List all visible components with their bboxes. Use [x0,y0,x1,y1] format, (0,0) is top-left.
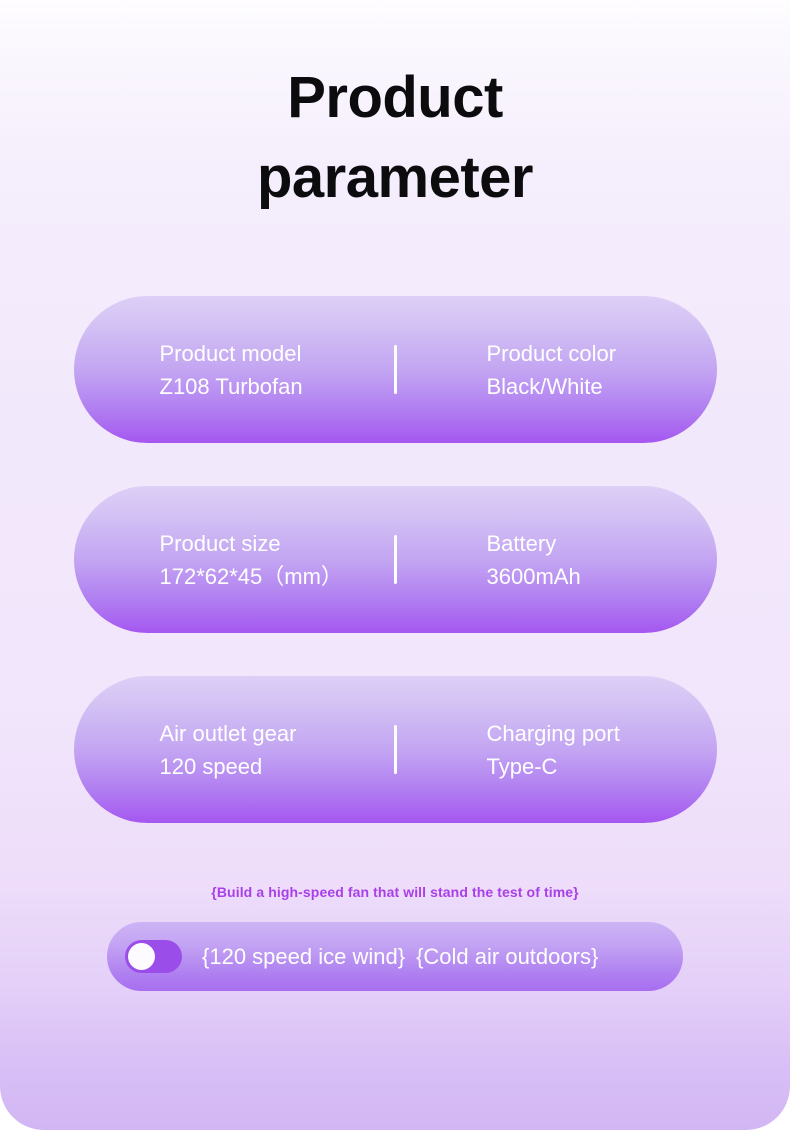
parameter-label: Product size [160,527,394,560]
toggle-switch[interactable] [125,940,182,973]
parameter-pill: Air outlet gear 120 speed Charging port … [74,676,717,823]
parameter-cell-left: Air outlet gear 120 speed [74,717,394,783]
parameter-value: Type-C [487,750,620,783]
parameter-label: Battery [487,527,581,560]
parameter-label: Product model [160,337,394,370]
feature-toggle-bar[interactable]: {120 speed ice wind}{Cold air outdoors} [107,922,683,991]
feature-text-2: {Cold air outdoors} [416,944,598,969]
parameter-label: Charging port [487,717,620,750]
feature-text-1: {120 speed ice wind} [202,944,405,969]
parameter-label: Air outlet gear [160,717,394,750]
parameter-pill: Product size 172*62*45（mm） Battery 3600m… [74,486,717,633]
parameter-cell-right: Product color Black/White [397,337,617,403]
parameter-cell-left: Product size 172*62*45（mm） [74,527,394,593]
parameter-label: Product color [487,337,617,370]
page-title-line-2: parameter [0,138,790,218]
parameter-value: 120 speed [160,750,394,783]
page-title: Product parameter [0,0,790,218]
tagline: {Build a high-speed fan that will stand … [0,884,790,900]
page-title-line-1: Product [0,58,790,138]
product-parameter-card: Product parameter Product model Z108 Tur… [0,0,790,1130]
parameter-cell-right: Battery 3600mAh [397,527,581,593]
parameter-value: Black/White [487,370,617,403]
parameter-value: 172*62*45（mm） [160,560,394,593]
parameter-cell-right: Charging port Type-C [397,717,620,783]
parameter-value: Z108 Turbofan [160,370,394,403]
parameter-value: 3600mAh [487,560,581,593]
parameter-pill: Product model Z108 Turbofan Product colo… [74,296,717,443]
parameter-pill-list: Product model Z108 Turbofan Product colo… [0,296,790,823]
feature-toggle-text: {120 speed ice wind}{Cold air outdoors} [202,946,598,968]
parameter-cell-left: Product model Z108 Turbofan [74,337,394,403]
toggle-knob-icon [128,943,155,970]
